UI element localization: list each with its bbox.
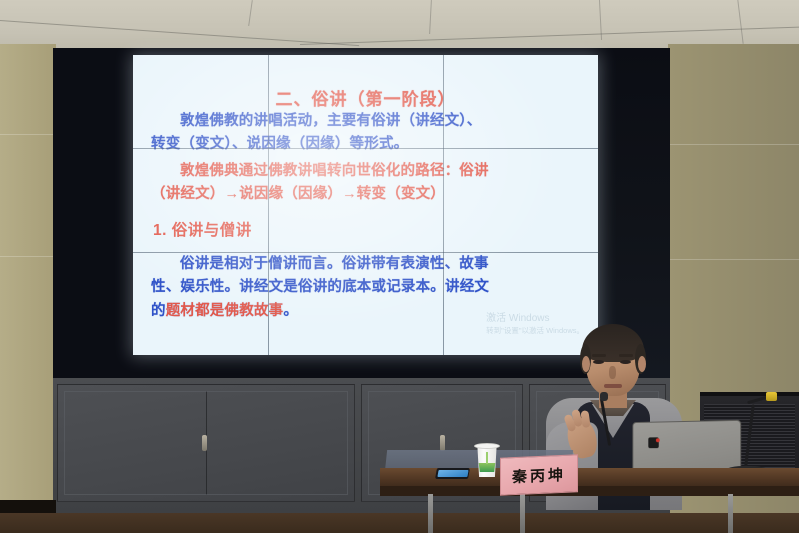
presenter-eye	[620, 360, 631, 364]
video-wall-seam-vertical	[443, 55, 444, 355]
presenter-nose	[609, 366, 616, 379]
slide-title: 二、俗讲（第一阶段）	[133, 85, 598, 110]
desk-edge	[380, 486, 799, 496]
desk-leg	[520, 494, 525, 533]
paragraph-2-line-2: （讲经文）→说因缘（因缘）→转变（变文）	[151, 186, 445, 202]
wall-panel-seam	[0, 134, 56, 135]
wall-panel-seam	[0, 256, 56, 257]
slide-subheading: 1. 俗讲与僧讲	[153, 218, 252, 240]
nameplate: 秦丙坤	[500, 454, 578, 495]
cabinet-door-split	[206, 391, 207, 495]
slide-paragraph-2: 敦煌佛典通过佛教讲唱转向世俗化的路径：俗讲 （讲经文）→说因缘（因缘）→转变（变…	[151, 160, 583, 207]
paper-cup-rim	[474, 443, 500, 449]
smartphone-screen[interactable]	[437, 470, 468, 477]
presenter-brow	[592, 354, 606, 357]
wall-left	[0, 44, 56, 533]
ceiling-grid-line	[248, 0, 253, 26]
cabinet-handle[interactable]	[202, 435, 207, 451]
microphone-capsule-right	[766, 392, 777, 401]
presenter-eye	[593, 360, 604, 364]
ceiling-grid-line	[429, 0, 432, 34]
wall-panel-seam	[668, 259, 799, 260]
cabinet-handle[interactable]	[440, 435, 445, 451]
video-wall-seam-horizontal	[133, 148, 598, 149]
presentation-slide: 二、俗讲（第一阶段） 敦煌佛教的讲唱活动，主要有俗讲（讲经文）、 转变（变文）、…	[133, 55, 598, 355]
presenter-ear	[582, 356, 590, 372]
desk-leg	[428, 494, 433, 533]
video-wall-seam-vertical	[268, 55, 269, 355]
paragraph-3-line-3-suffix: 。	[283, 303, 298, 319]
lecture-hall-scene: 二、俗讲（第一阶段） 敦煌佛教的讲唱活动，主要有俗讲（讲经文）、 转变（变文）、…	[0, 0, 799, 533]
paper-cup-stripe	[486, 452, 488, 464]
laptop-logo-dot-icon	[656, 438, 660, 442]
smartphone[interactable]	[435, 468, 470, 479]
floor	[0, 513, 799, 533]
presenter-mouth	[604, 384, 622, 388]
paragraph-3-line-3-prefix: 的	[151, 303, 166, 319]
video-wall-seam-horizontal	[133, 252, 598, 253]
paragraph-1-line-2: 转变（变文）、说因缘（因缘）等形式。	[151, 136, 408, 152]
desk-leg	[728, 494, 733, 533]
ceiling-grid-line	[0, 20, 359, 46]
cabinet-door-left[interactable]	[57, 384, 355, 502]
wall-panel-seam	[668, 144, 799, 145]
paragraph-3-highlight: 题材都是佛教故事	[166, 303, 284, 319]
ceiling-grid-line	[300, 27, 799, 45]
video-wall-display[interactable]: 二、俗讲（第一阶段） 敦煌佛教的讲唱活动，主要有俗讲（讲经文）、 转变（变文）、…	[133, 55, 598, 355]
nameplate-text: 秦丙坤	[512, 463, 566, 486]
presenter-brow	[619, 354, 633, 357]
microphone-capsule-left	[600, 392, 608, 401]
ceiling-grid-line	[737, 0, 743, 44]
paper-cup-band	[478, 463, 496, 472]
paragraph-1-line-1: 敦煌佛教的讲唱活动，主要有俗讲（讲经文）、	[180, 113, 481, 129]
paragraph-3-line-2: 性、娱乐性。讲经文是俗讲的底本或记录本。讲经文	[151, 279, 489, 295]
presenter-ear	[638, 356, 646, 372]
slide-paragraph-1: 敦煌佛教的讲唱活动，主要有俗讲（讲经文）、 转变（变文）、说因缘（因缘）等形式。	[151, 110, 583, 157]
